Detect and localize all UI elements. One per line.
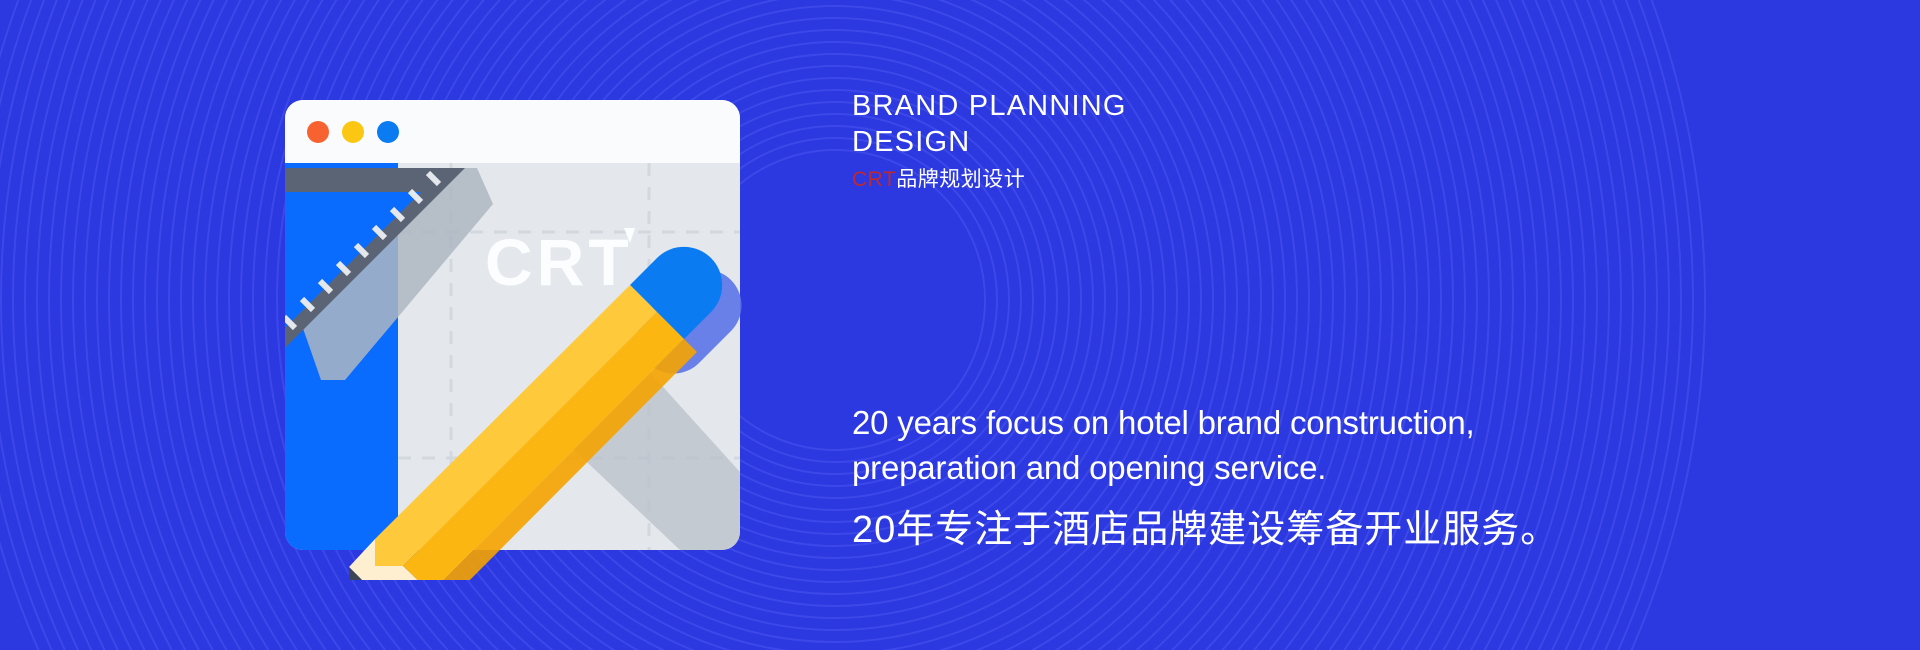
tagline-block: 20 years focus on hotel brand constructi… <box>852 400 1712 554</box>
tagline-english: 20 years focus on hotel brand constructi… <box>852 400 1712 490</box>
crt-logo-watermark: CRT <box>485 225 635 299</box>
tagline-chinese: 20年专注于酒店品牌建设筹备开业服务。 <box>852 506 1712 554</box>
traffic-light-red-icon[interactable] <box>307 121 329 143</box>
brand-design-illustration: CRT <box>225 80 805 580</box>
brand-mark: CRT <box>852 168 896 191</box>
headline-block: BRAND PLANNING DESIGN CRT品牌规划设计 <box>852 88 1612 194</box>
traffic-light-yellow-icon[interactable] <box>342 121 364 143</box>
subtitle: CRT品牌规划设计 <box>852 166 1612 194</box>
promo-banner: CRT <box>0 0 1920 650</box>
traffic-light-blue-icon[interactable] <box>377 121 399 143</box>
page-title: BRAND PLANNING DESIGN <box>852 88 1612 160</box>
subtitle-chinese: 品牌规划设计 <box>896 168 1025 191</box>
svg-text:CRT: CRT <box>485 225 633 299</box>
